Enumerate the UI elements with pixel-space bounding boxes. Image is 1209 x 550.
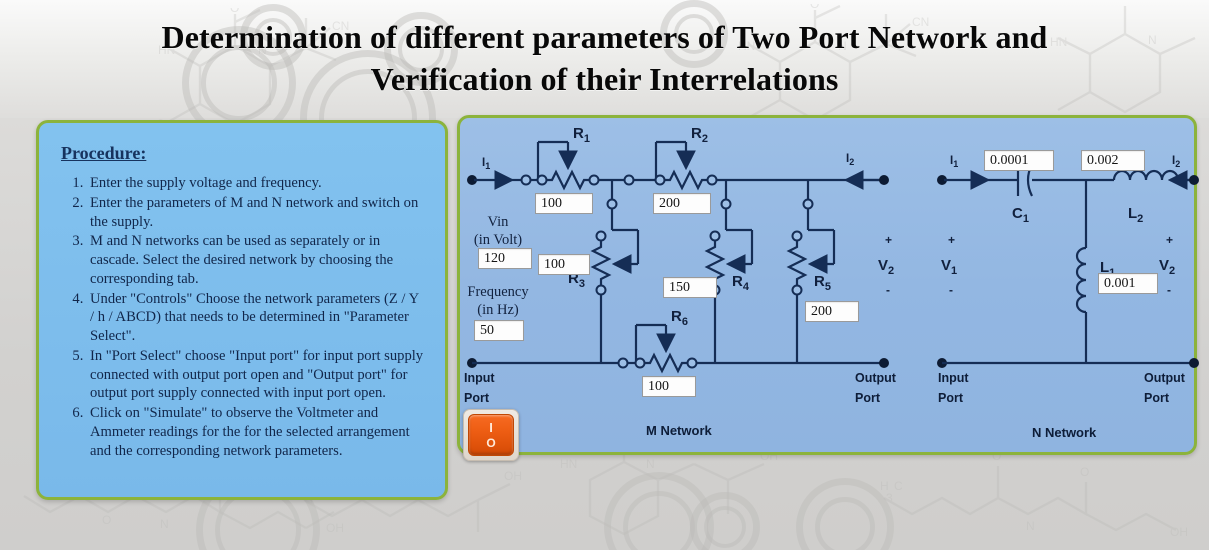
switch-off-icon: O xyxy=(486,437,495,449)
n-v1-plus: + xyxy=(948,233,955,247)
m-node-r3-top xyxy=(608,200,617,209)
n-output-bottom-terminal xyxy=(1189,358,1199,368)
svg-text:O: O xyxy=(102,513,111,527)
r3-value-input[interactable] xyxy=(538,254,590,275)
procedure-panel: Procedure: Enter the supply voltage and … xyxy=(36,120,448,500)
switch-on-icon: I xyxy=(489,421,493,434)
m-vin-label-line2: (in Volt) xyxy=(474,232,522,248)
n-output-port-line1: Output xyxy=(1144,371,1186,385)
n-input-port-line2: Port xyxy=(938,391,964,405)
n-i1-label: I1 xyxy=(950,155,958,169)
power-switch-rocker[interactable]: I O xyxy=(468,414,514,456)
m-node-r5-top xyxy=(804,200,813,209)
m-freq-label-line1: Frequency xyxy=(467,284,529,300)
m-network-title: M Network xyxy=(646,423,713,438)
svg-text:HN: HN xyxy=(560,457,577,471)
n-l2-coil xyxy=(1114,171,1178,180)
m-r4-terminal-top xyxy=(711,232,720,241)
m-r1-resistor xyxy=(546,172,590,188)
svg-text:C: C xyxy=(894,479,903,493)
svg-text:O: O xyxy=(1080,465,1089,479)
m-r4-label: R4 xyxy=(732,273,750,293)
procedure-step-list: Enter the supply voltage and frequency. … xyxy=(57,174,431,460)
m-v2-plus: + xyxy=(885,233,892,247)
l2-value-input[interactable] xyxy=(1081,150,1145,171)
procedure-step: M and N networks can be used as separate… xyxy=(87,232,425,288)
m-i2-label: I2 xyxy=(846,153,854,167)
m-r3-terminal-top xyxy=(597,232,606,241)
m-node-mid xyxy=(625,176,634,185)
n-v2-plus: + xyxy=(1166,233,1173,247)
m-i1-label: I1 xyxy=(482,157,490,171)
procedure-step: Enter the parameters of M and N network … xyxy=(87,194,425,232)
m-output-top-terminal xyxy=(879,175,889,185)
n-output-top-terminal xyxy=(1189,175,1199,185)
l1-value-input[interactable] xyxy=(1098,273,1158,294)
n-v2-label: V2 xyxy=(1159,257,1175,277)
r2-value-input[interactable] xyxy=(653,193,711,214)
n-network-title: N Network xyxy=(1032,425,1097,440)
m-r3-resistor xyxy=(593,241,609,285)
m-vin-label-line1: Vin xyxy=(488,214,510,230)
m-r5-label: R5 xyxy=(814,273,831,293)
n-l1-coil xyxy=(1077,248,1086,312)
r4-value-input[interactable] xyxy=(663,277,717,298)
m-r1-label: R1 xyxy=(573,125,590,145)
n-input-port-line1: Input xyxy=(938,371,969,385)
m-input-port-line2: Port xyxy=(464,391,490,405)
m-output-bottom-terminal xyxy=(879,358,889,368)
m-input-port-line1: Input xyxy=(464,371,495,385)
page-title-line-1: Determination of different parameters of… xyxy=(0,16,1209,58)
procedure-step: Enter the supply voltage and frequency. xyxy=(87,174,425,193)
r1-value-input[interactable] xyxy=(535,193,593,214)
svg-text:O: O xyxy=(810,4,819,11)
svg-text:N: N xyxy=(160,517,169,531)
m-node-bottom-left xyxy=(619,359,628,368)
m-r2-label: R2 xyxy=(691,125,708,145)
c1-value-input[interactable] xyxy=(984,150,1054,171)
m-r2-resistor xyxy=(664,172,708,188)
m-r6-terminal-left xyxy=(636,359,645,368)
page-title: Determination of different parameters of… xyxy=(0,16,1209,100)
svg-text:O: O xyxy=(230,8,239,15)
m-output-port-line2: Port xyxy=(855,391,881,405)
m-v2-label: V2 xyxy=(878,257,894,277)
n-l2-label: L2 xyxy=(1128,205,1143,225)
m-r1-terminal-right xyxy=(590,176,599,185)
m-node-in xyxy=(522,176,531,185)
m-r6-label: R6 xyxy=(671,308,688,328)
n-v1-label: V1 xyxy=(941,257,957,277)
m-r5-terminal-bottom xyxy=(793,286,802,295)
svg-text:N: N xyxy=(1026,519,1035,533)
n-v2-minus: - xyxy=(1167,283,1171,297)
m-output-port-line1: Output xyxy=(855,371,897,385)
m-r6-terminal-right xyxy=(688,359,697,368)
procedure-heading: Procedure: xyxy=(61,143,431,164)
n-output-port-line2: Port xyxy=(1144,391,1170,405)
svg-text:N: N xyxy=(646,457,655,471)
n-network-group: I1 C1 L2 I2 L1 + xyxy=(937,155,1199,440)
procedure-step: In "Port Select" choose "Input port" for… xyxy=(87,347,425,403)
r6-value-input[interactable] xyxy=(642,376,696,397)
m-r1-terminal-left xyxy=(538,176,547,185)
m-node-r4-top xyxy=(722,200,731,209)
circuit-panel: I1 R1 R2 xyxy=(457,115,1197,455)
vin-value-input[interactable] xyxy=(478,248,532,269)
procedure-step: Under "Controls" Choose the network para… xyxy=(87,290,425,346)
m-freq-label-line2: (in Hz) xyxy=(477,302,519,318)
n-i2-label: I2 xyxy=(1172,155,1180,169)
m-r6-resistor xyxy=(644,355,688,371)
m-r2-terminal-left xyxy=(656,176,665,185)
frequency-value-input[interactable] xyxy=(474,320,524,341)
power-switch[interactable]: I O xyxy=(463,409,519,461)
r5-value-input[interactable] xyxy=(805,301,859,322)
svg-text:OH: OH xyxy=(504,469,522,483)
m-r5-terminal-top xyxy=(793,232,802,241)
m-r2-terminal-right xyxy=(708,176,717,185)
m-r3-terminal-bottom xyxy=(597,286,606,295)
page-title-line-2: Verification of their Interrelations xyxy=(0,58,1209,100)
n-c1-label: C1 xyxy=(1012,205,1029,225)
n-v1-minus: - xyxy=(949,283,953,297)
svg-text:OH: OH xyxy=(1170,525,1188,539)
m-v2-minus: - xyxy=(886,283,890,297)
procedure-step: Click on "Simulate" to observe the Voltm… xyxy=(87,404,425,460)
m-r5-resistor xyxy=(789,241,805,285)
